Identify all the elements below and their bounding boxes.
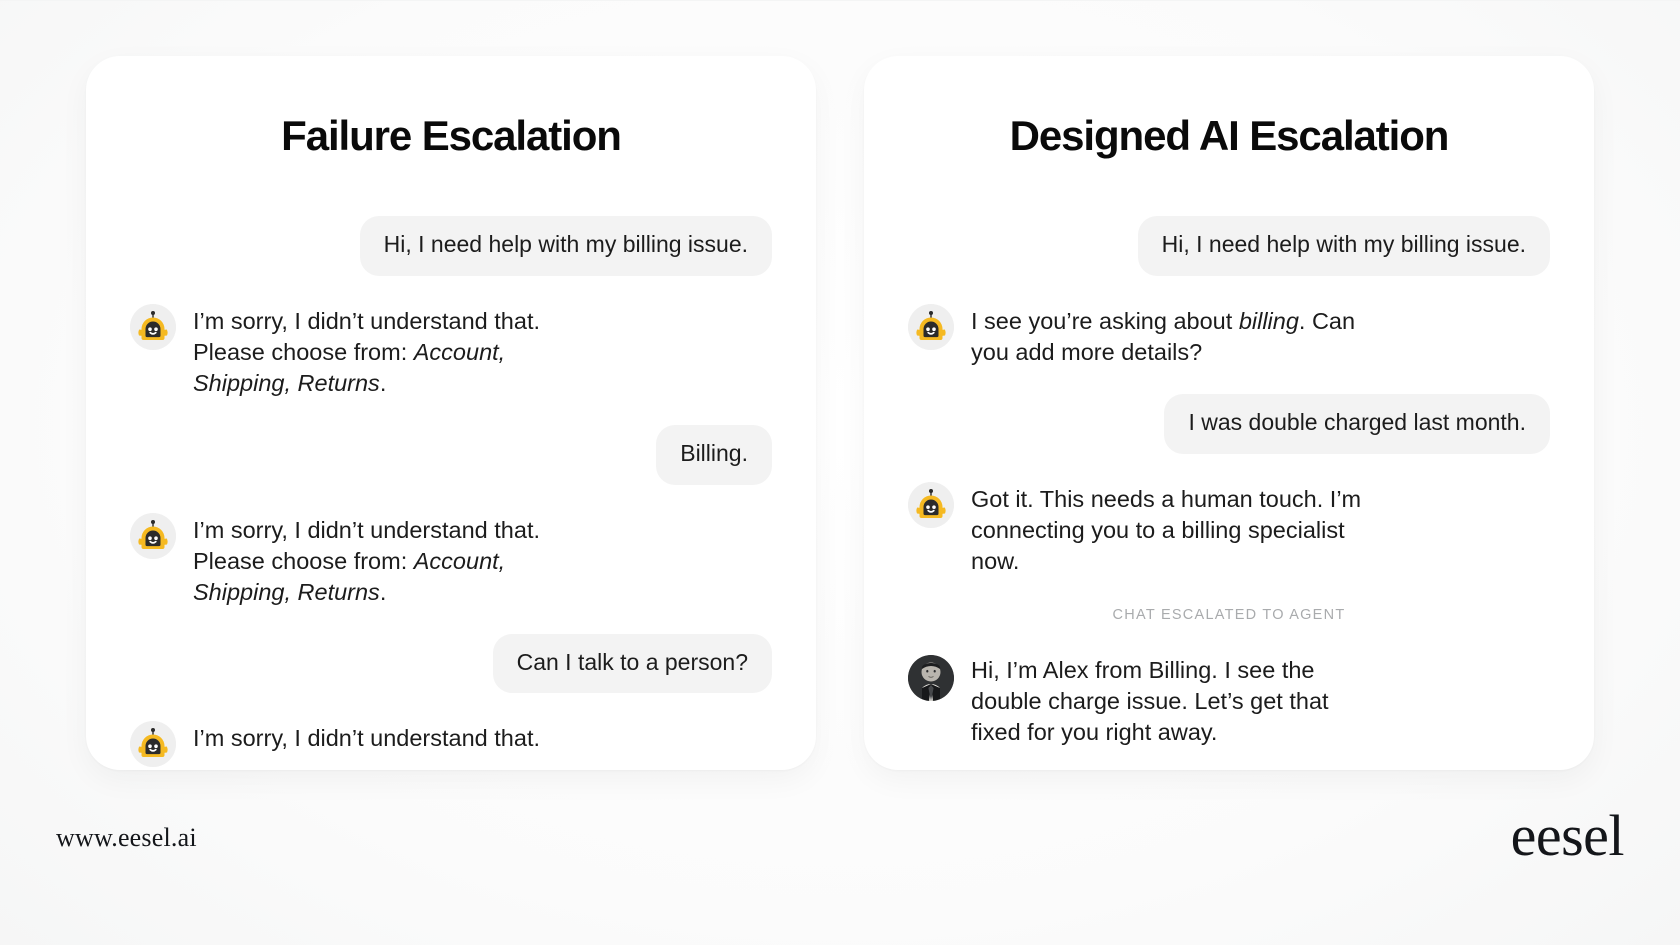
user-message-bubble: Billing.	[656, 425, 772, 485]
bot-message-text: I’m sorry, I didn’t understand that. Ple…	[193, 511, 585, 608]
robot-avatar-icon	[130, 721, 176, 767]
agent-message-body: Hi, I’m Alex from Billing. I see the dou…	[971, 657, 1329, 745]
chat-row-user: Hi, I need help with my billing issue.	[130, 216, 772, 276]
chat-row-user: I was double charged last month.	[908, 394, 1550, 454]
bot-message-tail: .	[380, 579, 387, 605]
chat-row-bot: I’m sorry, I didn’t understand that.	[130, 719, 772, 767]
bot-message-lead: I see you’re asking about	[971, 308, 1239, 334]
robot-avatar-icon	[130, 513, 176, 559]
canvas-background: Failure Escalation Hi, I need help with …	[0, 0, 1680, 945]
agent-message-text: Hi, I’m Alex from Billing. I see the dou…	[971, 651, 1363, 748]
site-url-label: www.eesel.ai	[56, 823, 197, 853]
bot-message-text: I’m sorry, I didn’t understand that. Ple…	[193, 302, 585, 399]
chat-row-agent: Hi, I’m Alex from Billing. I see the dou…	[908, 651, 1550, 748]
chat-row-bot: Got it. This needs a human touch. I’m co…	[908, 480, 1550, 577]
bot-message-text: I see you’re asking about billing. Can y…	[971, 302, 1363, 368]
robot-avatar-icon	[130, 304, 176, 350]
chat-row-user: Hi, I need help with my billing issue.	[908, 216, 1550, 276]
panel-failure-escalation: Failure Escalation Hi, I need help with …	[86, 56, 816, 770]
user-message-bubble: Hi, I need help with my billing issue.	[1138, 216, 1550, 276]
page-footer: www.eesel.ai eesel	[0, 770, 1680, 945]
top-hairline	[0, 0, 1680, 1]
bot-message-tail: .	[380, 370, 387, 396]
chat-row-user: Can I talk to a person?	[130, 634, 772, 694]
bot-message-text: Got it. This needs a human touch. I’m co…	[971, 480, 1363, 577]
comparison-panels: Failure Escalation Hi, I need help with …	[86, 56, 1594, 770]
chat-row-bot: I’m sorry, I didn’t understand that. Ple…	[130, 511, 772, 608]
bot-message-topic: billing	[1239, 308, 1299, 334]
chat-row-user: Billing.	[130, 425, 772, 485]
user-message-bubble: I was double charged last month.	[1164, 394, 1550, 454]
escalation-status-note: Chat escalated to agent	[908, 603, 1550, 625]
eesel-brand-logo: eesel	[1511, 807, 1624, 869]
user-message-bubble: Hi, I need help with my billing issue.	[360, 216, 772, 276]
chat-thread-designed: Hi, I need help with my billing issue.	[908, 216, 1550, 748]
chat-row-bot: I’m sorry, I didn’t understand that. Ple…	[130, 302, 772, 399]
bot-message-text: I’m sorry, I didn’t understand that.	[193, 719, 540, 754]
bot-message-lead: Got it. This needs a human touch. I’m co…	[971, 486, 1361, 574]
chat-thread-failure: Hi, I need help with my billing issue.	[130, 216, 772, 767]
robot-avatar-icon	[908, 304, 954, 350]
chat-row-bot: I see you’re asking about billing. Can y…	[908, 302, 1550, 368]
user-message-bubble: Can I talk to a person?	[493, 634, 772, 694]
panel-designed-ai-escalation: Designed AI Escalation Hi, I need help w…	[864, 56, 1594, 770]
bot-message-lead: I’m sorry, I didn’t understand that.	[193, 725, 540, 751]
robot-avatar-icon	[908, 482, 954, 528]
human-agent-avatar	[908, 655, 954, 701]
panel-title-designed: Designed AI Escalation	[908, 112, 1550, 160]
panel-title-failure: Failure Escalation	[130, 112, 772, 160]
